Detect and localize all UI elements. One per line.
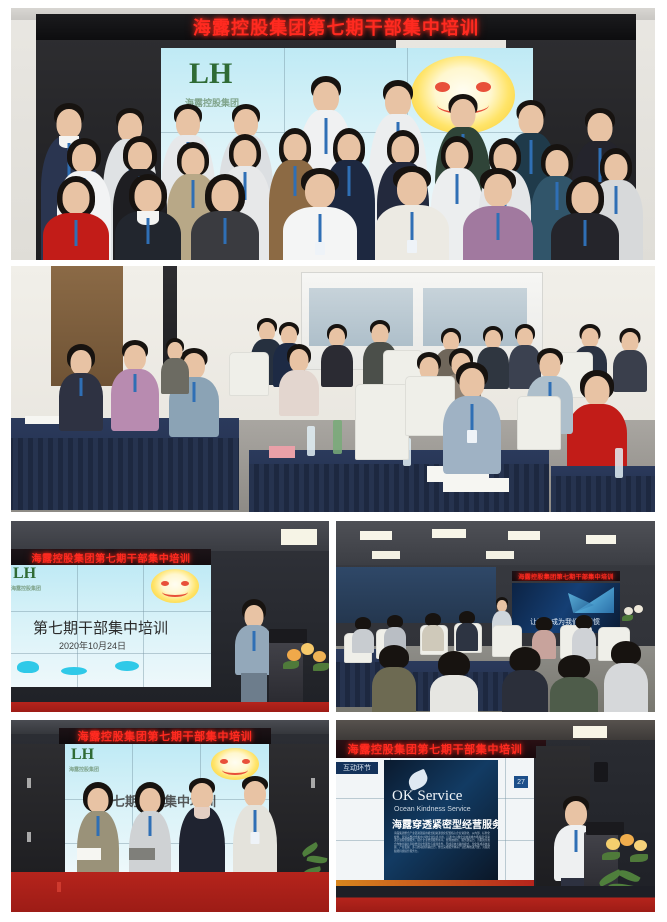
lh-mark-sub-award: 海露控股集团 xyxy=(69,766,99,773)
ok-service-title-cn: 海露穿透紧密型经营服务 xyxy=(392,816,498,831)
ok-service-body-cn: 海露集团整合产业链资源运用模式和资源优化配置核心企业资源化、从内部、标准化规划，… xyxy=(394,832,490,853)
lh-logo-text: LH xyxy=(189,60,232,87)
led-banner-room-wide: 海露控股集团第七期干部集中培训 xyxy=(512,571,620,581)
lh-logo-subtitle-slide: 海露控股集团 xyxy=(11,585,41,592)
led-banner-speaker: 海露控股集团第七期干部集中培训 xyxy=(11,549,211,565)
led-banner-award: 海露控股集团第七期干部集中培训 xyxy=(59,728,271,744)
speaker-slide-photo[interactable]: 海露控股集团第七期干部集中培训 LH 海露控股集团 第七期干部集中培训 2020… xyxy=(11,521,329,712)
flower-arrangement xyxy=(283,641,329,691)
ok-service-subtitle: Ocean Kindness Service xyxy=(394,806,471,813)
audience-photo[interactable] xyxy=(11,266,655,512)
award-photo[interactable]: 海露控股集团第七期干部集中培训 第七期干部集中培训 LH 海露控股集团 xyxy=(11,720,329,912)
ok-service-screen: 互动环节 27 OK Service Ocean Kindness Servic… xyxy=(336,758,534,890)
led-banner-text-room: 海露控股集团第七期干部集中培训 xyxy=(518,572,613,581)
photo-collage: 海露控股集团第七期干部集中培训 LH 海露控股集团 xyxy=(0,0,667,922)
led-banner-text-award: 海露控股集团第七期干部集中培训 xyxy=(78,728,253,744)
smiley-graphic-slide xyxy=(151,569,199,603)
slide-number-badge: 27 xyxy=(514,776,528,788)
ok-service-slide: OK Service Ocean Kindness Service 海露穿透紧密… xyxy=(384,760,498,882)
led-banner-text-speaker: 海露控股集团第七期干部集中培训 xyxy=(32,550,191,565)
led-banner-text-ok: 海露控股集团第七期干部集中培训 xyxy=(348,741,523,757)
led-banner-text: 海露控股集团第七期干部集中培训 xyxy=(193,14,479,40)
lh-mark-award: LH xyxy=(71,748,94,762)
slide-date: 2020年10月24日 xyxy=(59,639,126,652)
led-banner-group-photo: 海露控股集团第七期干部集中培训 xyxy=(36,14,636,40)
side-tag-interactive: 互动环节 xyxy=(336,762,378,774)
room-wide-photo[interactable]: 海露控股集团第七期干部集中培训 让服务成为我们的习惯 xyxy=(336,521,655,712)
ok-service-photo[interactable]: 海露控股集团第七期干部集中培训 互动环节 27 OK Service Ocean… xyxy=(336,720,655,912)
ok-service-title: OK Service xyxy=(392,788,462,805)
group-photo[interactable]: 海露控股集团第七期干部集中培训 LH 海露控股集团 xyxy=(11,8,655,260)
led-banner-ok-service: 海露控股集团第七期干部集中培训 xyxy=(336,740,546,758)
presentation-screen: LH 海露控股集团 第七期干部集中培训 2020年10月24日 xyxy=(11,565,211,687)
slide-title-main: 第七期干部集中培训 xyxy=(33,617,168,638)
lh-logo-text-slide: LH xyxy=(13,567,36,581)
